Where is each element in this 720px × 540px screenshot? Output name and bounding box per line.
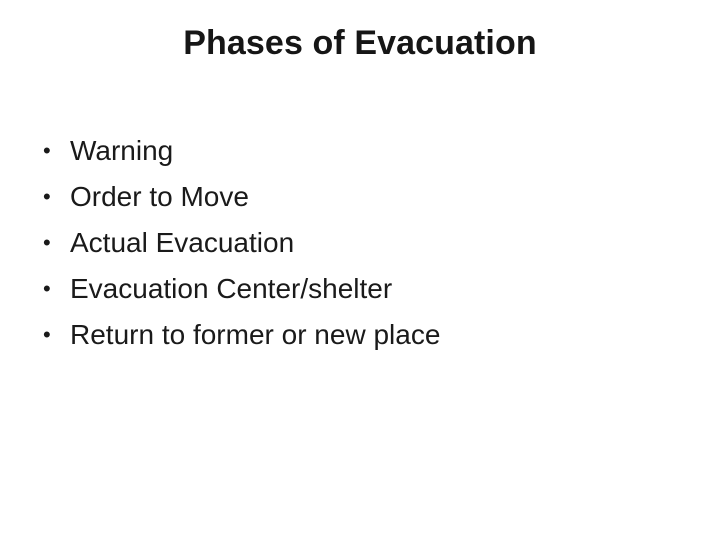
list-item-label: Evacuation Center/shelter: [70, 273, 392, 304]
list-item: • Warning: [40, 128, 680, 174]
list-item-label: Warning: [70, 135, 173, 166]
page-title: Phases of Evacuation: [0, 22, 720, 64]
list-item: • Order to Move: [40, 174, 680, 220]
bullet-point-icon: •: [43, 220, 57, 266]
bullet-point-icon: •: [43, 174, 57, 220]
list-item-label: Return to former or new place: [70, 319, 440, 350]
list-item: • Evacuation Center/shelter: [40, 266, 680, 312]
bullet-point-icon: •: [43, 312, 57, 358]
list-item: • Return to former or new place: [40, 312, 680, 358]
bullet-point-icon: •: [43, 128, 57, 174]
bullet-list: • Warning • Order to Move • Actual Evacu…: [40, 128, 680, 358]
list-item: • Actual Evacuation: [40, 220, 680, 266]
list-item-label: Order to Move: [70, 181, 249, 212]
slide-canvas: Phases of Evacuation • Warning • Order t…: [0, 0, 720, 540]
bullet-point-icon: •: [43, 266, 57, 312]
list-item-label: Actual Evacuation: [70, 227, 294, 258]
